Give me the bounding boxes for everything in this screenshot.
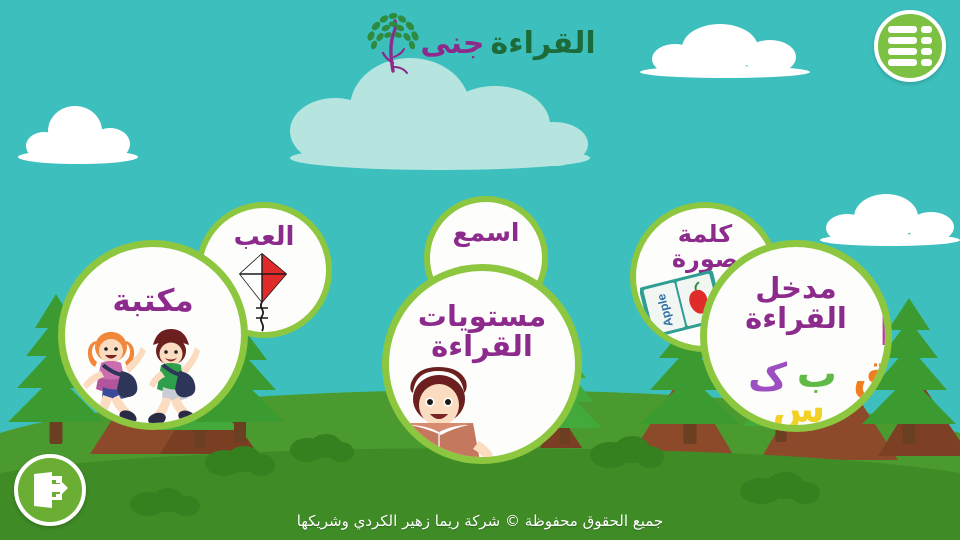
svg-text:Apple: Apple xyxy=(654,292,676,328)
menu-line-icon xyxy=(888,37,917,44)
bubble-reading-entrance-label: مدخل القراءة xyxy=(707,273,885,334)
two-children-icon xyxy=(79,327,219,427)
menu-bullet-icon xyxy=(921,37,932,44)
app-logo: القراءة جنى xyxy=(0,6,960,80)
bush-mid-left xyxy=(290,434,354,462)
bubble-reading-levels-line2: القراءة xyxy=(389,331,575,361)
menu-line-icon xyxy=(888,48,917,55)
app-logo-word-right: جنى xyxy=(420,26,484,61)
bubble-word-picture-line1: كلمة xyxy=(636,222,774,247)
menu-row xyxy=(888,26,932,33)
bush-left xyxy=(205,446,275,476)
bubble-reading-levels-line1: مستويات xyxy=(389,301,575,331)
bubble-library[interactable]: مكتبة xyxy=(58,240,248,430)
cloud-right xyxy=(820,195,960,250)
menu-row xyxy=(888,59,932,66)
menu-row xyxy=(888,37,932,44)
letter-kaf: ک xyxy=(748,355,787,399)
app-root: القراءة جنى xyxy=(0,0,960,540)
bush-center xyxy=(590,436,664,468)
bubble-reading-entrance-line2: القراءة xyxy=(707,303,885,333)
menu-line-icon xyxy=(888,59,917,66)
app-logo-word-left: القراءة xyxy=(491,26,596,61)
app-logo-text: القراءة جنى xyxy=(420,26,595,61)
bush-right xyxy=(740,472,820,504)
tree-icon xyxy=(364,11,422,75)
copyright-text: جميع الحقوق محفوظة © شركة ريما زهير الكر… xyxy=(0,512,960,530)
bubble-reading-levels[interactable]: مستويات القراءة xyxy=(382,264,582,464)
letter-baa: ب xyxy=(797,351,837,397)
menu-bullet-icon xyxy=(921,59,932,66)
menu-row xyxy=(888,48,932,55)
cloud-left xyxy=(18,115,138,170)
letter-seen: س xyxy=(773,387,825,431)
bubble-play-label: العب xyxy=(202,224,326,251)
bubble-reading-entrance-line1: مدخل xyxy=(707,273,885,303)
bubble-reading-levels-label: مستويات القراءة xyxy=(389,301,575,362)
menu-line-icon xyxy=(888,26,917,33)
menu-bullet-icon xyxy=(921,48,932,55)
bubble-library-label: مكتبة xyxy=(65,285,241,318)
letter-alef: أ xyxy=(879,309,892,355)
bubble-listen-label: اسمع xyxy=(430,220,542,246)
exit-door-arrow-icon xyxy=(28,468,72,512)
bubble-reading-entrance[interactable]: مدخل القراءة أ ق ب ک س xyxy=(700,240,892,432)
menu-button[interactable] xyxy=(874,10,946,82)
menu-bullet-icon xyxy=(921,26,932,33)
